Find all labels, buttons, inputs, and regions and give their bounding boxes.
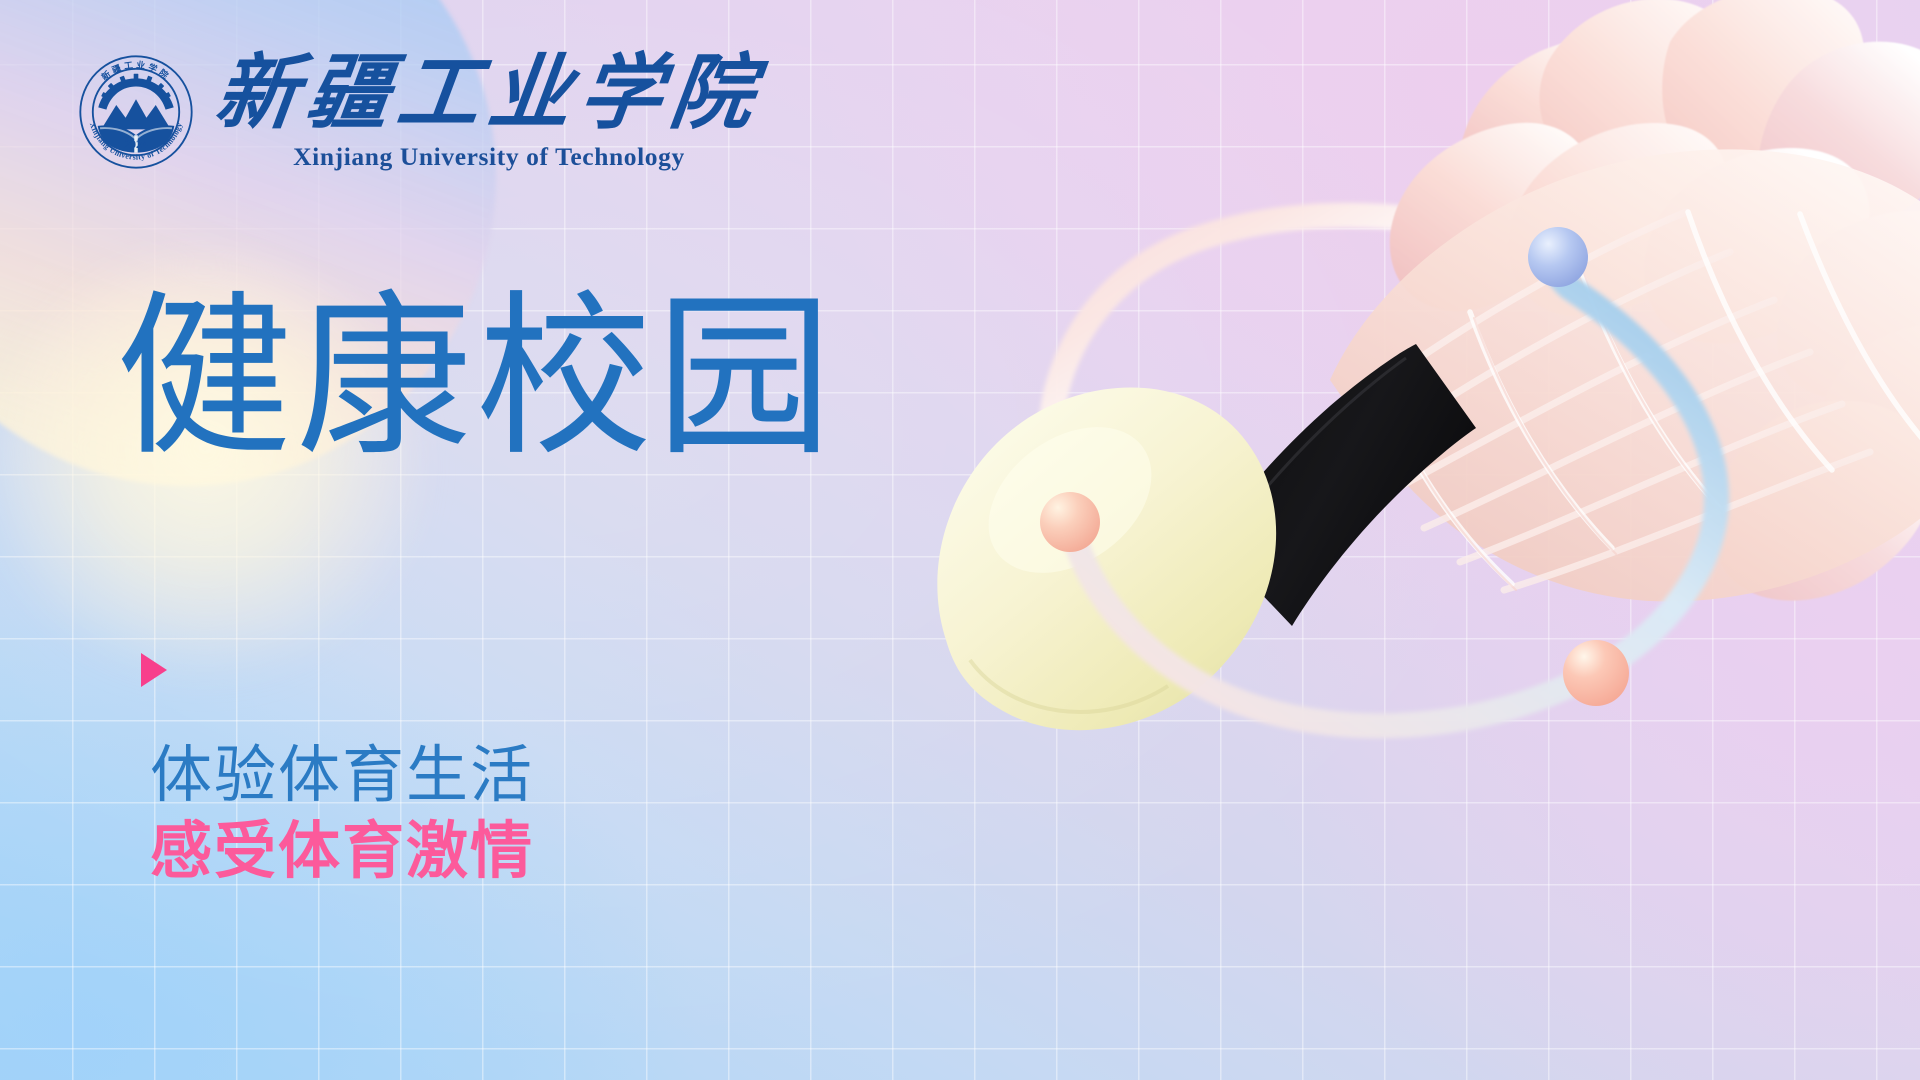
- orbit-spheres: [1040, 227, 1629, 706]
- badminton-shuttlecock-illustration: [770, 0, 1920, 900]
- feather-skirt: [1330, 0, 1920, 601]
- play-triangle-icon: [141, 653, 167, 687]
- subtitle-block: 体验体育生活 感受体育激情: [150, 738, 534, 889]
- orbit-ring-back: [1051, 215, 1550, 520]
- brand-name-en: Xinjiang University of Technology: [216, 142, 762, 172]
- black-band: [1210, 344, 1476, 626]
- page-title: 健康校园: [116, 290, 836, 466]
- sphere-peach: [1040, 492, 1100, 552]
- emblem-year-label: 2024: [124, 138, 147, 151]
- brand-header: 2024 新疆工业学院 Xinjiang University of Techn…: [78, 52, 762, 172]
- brand-wordmark: 新疆工业学院 Xinjiang University of Technology: [216, 52, 762, 172]
- poster-canvas: 2024 新疆工业学院 Xinjiang University of Techn…: [0, 0, 1920, 1080]
- orbit-ring-front: [1070, 258, 1717, 726]
- university-emblem-icon: 2024 新疆工业学院 Xinjiang University of Techn…: [78, 54, 194, 170]
- sphere-blue: [1528, 227, 1588, 287]
- subtitle-line-1: 体验体育生活: [150, 738, 534, 814]
- brand-name-cn: 新疆工业学院: [211, 52, 767, 136]
- sphere-coral: [1563, 640, 1629, 706]
- cork-base: [937, 387, 1276, 730]
- subtitle-line-2: 感受体育激情: [150, 814, 534, 890]
